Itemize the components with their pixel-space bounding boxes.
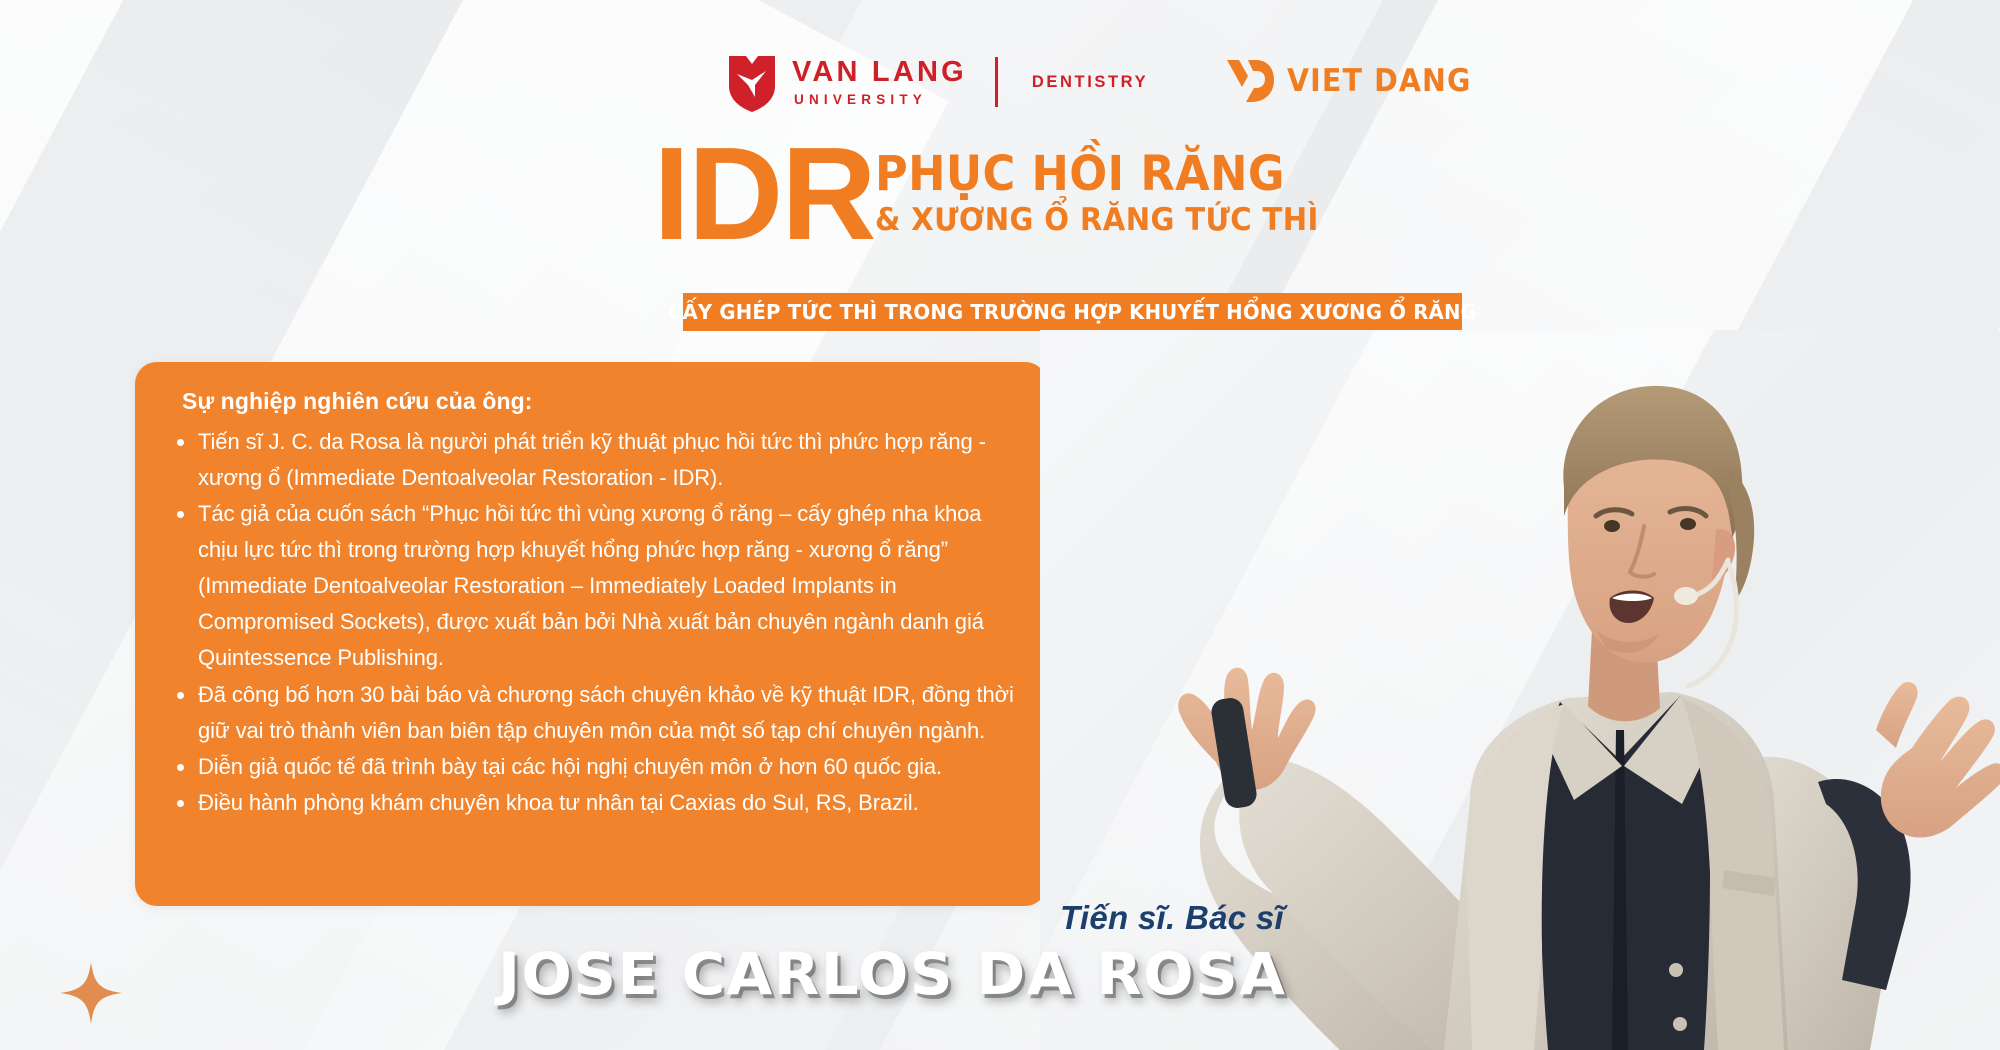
list-item: Đã công bố hơn 30 bài báo và chương sách… (161, 677, 1017, 749)
viet-dang-logo: VIET DANG (1225, 50, 1488, 112)
card-bullet-list: Tiến sĩ J. C. da Rosa là người phát triể… (161, 424, 1017, 821)
viet-dang-wordmark: VIET DANG (1287, 63, 1472, 99)
logo-row: VAN LANG UNIVERSITY DENTISTRY VIET DANG (0, 46, 2000, 118)
card-heading: Sự nghiệp nghiên cứu của ông: (182, 388, 1017, 415)
van-lang-wordmark: VAN LANG UNIVERSITY (792, 58, 967, 107)
shield-v-icon (726, 52, 778, 112)
title-block: IDR PHỤC HỒI RĂNG & XƯƠNG Ổ RĂNG TỨC THÌ (0, 140, 2000, 248)
list-item: Tác giả của cuốn sách “Phục hồi tức thì … (161, 496, 1017, 676)
university-name: VAN LANG (792, 58, 967, 87)
university-subname: UNIVERSITY (792, 93, 967, 107)
speaker-name: JOSE CARLOS DA ROSA (498, 940, 1287, 1008)
sparkle-icon (58, 960, 124, 1026)
vd-monogram-icon (1225, 57, 1277, 105)
title-ribbon: CẤY GHÉP TỨC THÌ TRONG TRƯỜNG HỢP KHUYẾT… (683, 293, 1462, 331)
idr-acronym: IDR (653, 140, 874, 248)
list-item: Diễn giả quốc tế đã trình bày tại các hộ… (161, 749, 1017, 785)
ribbon-text: CẤY GHÉP TỨC THÌ TRONG TRƯỜNG HỢP KHUYẾT… (668, 300, 1477, 324)
research-career-card: Sự nghiệp nghiên cứu của ông: Tiến sĩ J.… (135, 362, 1047, 906)
speaker-honorific: Tiến sĩ. Bác sĩ (1060, 899, 1284, 937)
title-line-1: PHỤC HỒI RĂNG (875, 150, 1314, 199)
list-item: Điều hành phòng khám chuyên khoa tư nhân… (161, 785, 1017, 821)
list-item: Tiến sĩ J. C. da Rosa là người phát triể… (161, 424, 1017, 496)
logo-divider (995, 57, 998, 107)
title-line-2: & XƯƠNG Ổ RĂNG TỨC THÌ (875, 201, 1319, 240)
department-label: DENTISTRY (1032, 73, 1148, 92)
van-lang-university-logo: VAN LANG UNIVERSITY DENTISTRY (726, 46, 1148, 118)
